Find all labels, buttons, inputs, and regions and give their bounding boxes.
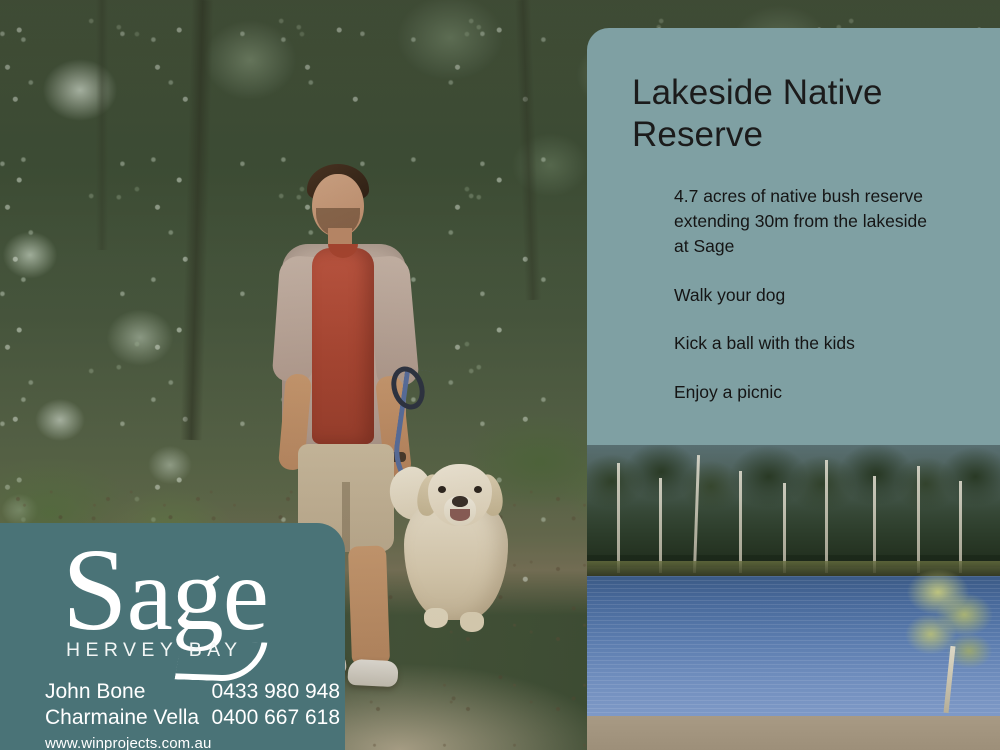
- info-body: 4.7 acres of native bush reserve extendi…: [632, 184, 1000, 405]
- brand-location-subtitle: HERVEY BAY: [66, 639, 242, 662]
- contact-name: John Bone: [45, 679, 145, 705]
- contact-phone[interactable]: 0400 667 618: [212, 705, 340, 731]
- info-paragraph: 4.7 acres of native bush reserve extendi…: [674, 184, 932, 259]
- contact-phone[interactable]: 0433 980 948: [212, 679, 340, 705]
- lake-inset-photo: [587, 445, 1000, 750]
- page-title: Lakeside Native Reserve: [632, 72, 932, 156]
- info-paragraph: Kick a ball with the kids: [674, 331, 932, 356]
- contact-details: John Bone 0433 980 948 Charmaine Vella 0…: [45, 679, 340, 750]
- info-paragraph: Walk your dog: [674, 283, 932, 308]
- sage-wordmark: Sage: [62, 531, 268, 649]
- website-link[interactable]: www.winprojects.com.au: [45, 735, 340, 750]
- wordmark-capital: S: [62, 524, 127, 655]
- marketing-poster: Lakeside Native Reserve 4.7 acres of nat…: [0, 0, 1000, 750]
- gum-tree-trunks: [587, 445, 1000, 573]
- contact-name: Charmaine Vella: [45, 705, 199, 731]
- wordmark-rest: age: [127, 537, 268, 652]
- logo-contact-panel: Sage HERVEY BAY John Bone 0433 980 948 C…: [0, 523, 345, 750]
- contact-row: John Bone 0433 980 948: [45, 679, 340, 705]
- info-paragraph: Enjoy a picnic: [674, 380, 932, 405]
- sandy-shoreline: [587, 716, 1000, 750]
- info-panel: Lakeside Native Reserve 4.7 acres of nat…: [587, 28, 1000, 445]
- contact-row: Charmaine Vella 0400 667 618: [45, 705, 340, 731]
- foreground-shrub: [890, 567, 1000, 707]
